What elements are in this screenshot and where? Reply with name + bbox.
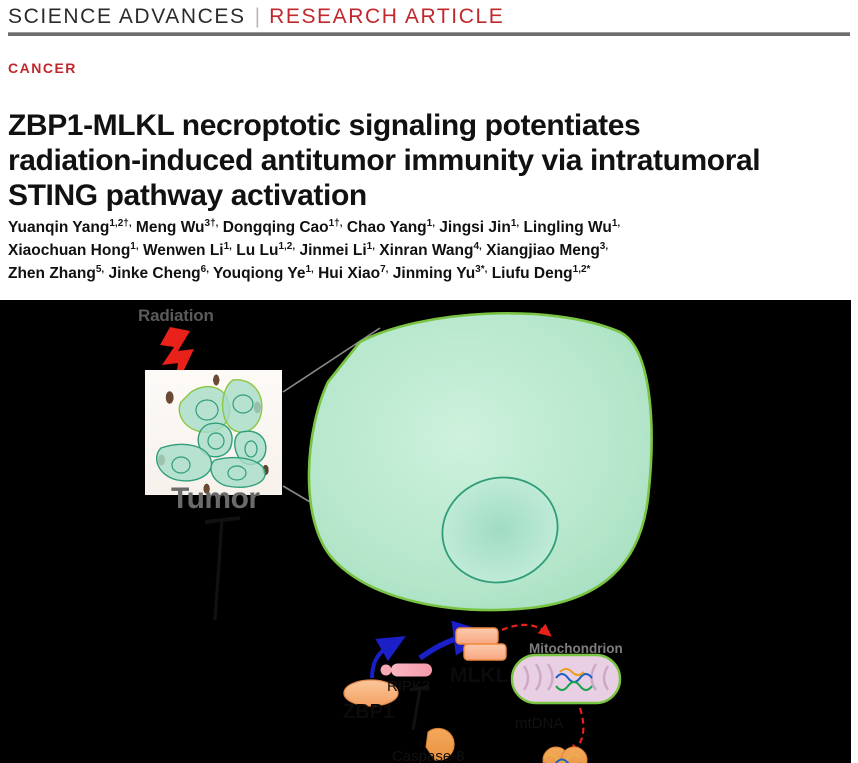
header-separator: | <box>255 5 260 29</box>
cgas-protein <box>543 747 587 763</box>
header-divider <box>8 32 850 36</box>
graphical-abstract-figure: Radiation <box>0 300 851 763</box>
page-title: ZBP1-MLKL necroptotic signaling potentia… <box>8 108 846 213</box>
title-line-2: radiation-induced antitumor immunity via… <box>8 143 846 178</box>
journal-name: SCIENCE ADVANCES <box>8 5 246 29</box>
mtdna-label: mtDNA <box>515 715 563 732</box>
mlkl-label: MLKL <box>450 664 508 688</box>
author-line-1: Yuanqin Yang1,2†, Meng Wu3†, Dongqing Ca… <box>8 216 850 239</box>
title-line-3: STING pathway activation <box>8 178 846 213</box>
mlkl-to-mitochondrion-arrow <box>502 625 546 632</box>
article-type-label: RESEARCH ARTICLE <box>269 5 504 29</box>
section-label: CANCER <box>8 60 77 76</box>
mlkl-protein <box>456 628 506 660</box>
mtdna-release-arrow <box>574 708 583 752</box>
author-list: Yuanqin Yang1,2†, Meng Wu3†, Dongqing Ca… <box>8 216 850 285</box>
mitochondrion-organelle <box>512 655 620 703</box>
ripk3-protein <box>381 664 433 677</box>
ripk3-label: RIPK3 <box>387 678 430 695</box>
author-line-3: Zhen Zhang5, Jinke Cheng6, Youqiong Ye1,… <box>8 262 850 285</box>
caspase8-label: Caspase-8 <box>392 748 465 763</box>
journal-header: SCIENCE ADVANCES | RESEARCH ARTICLE <box>8 4 850 30</box>
zbp1-label: ZBP1 <box>343 701 394 724</box>
article-page: SCIENCE ADVANCES | RESEARCH ARTICLE CANC… <box>0 0 858 763</box>
author-line-2: Xiaochuan Hong1, Wenwen Li1, Lu Lu1,2, J… <box>8 239 850 262</box>
title-line-1: ZBP1-MLKL necroptotic signaling potentia… <box>8 108 846 143</box>
mitochondrion-label: Mitochondrion <box>529 641 623 656</box>
